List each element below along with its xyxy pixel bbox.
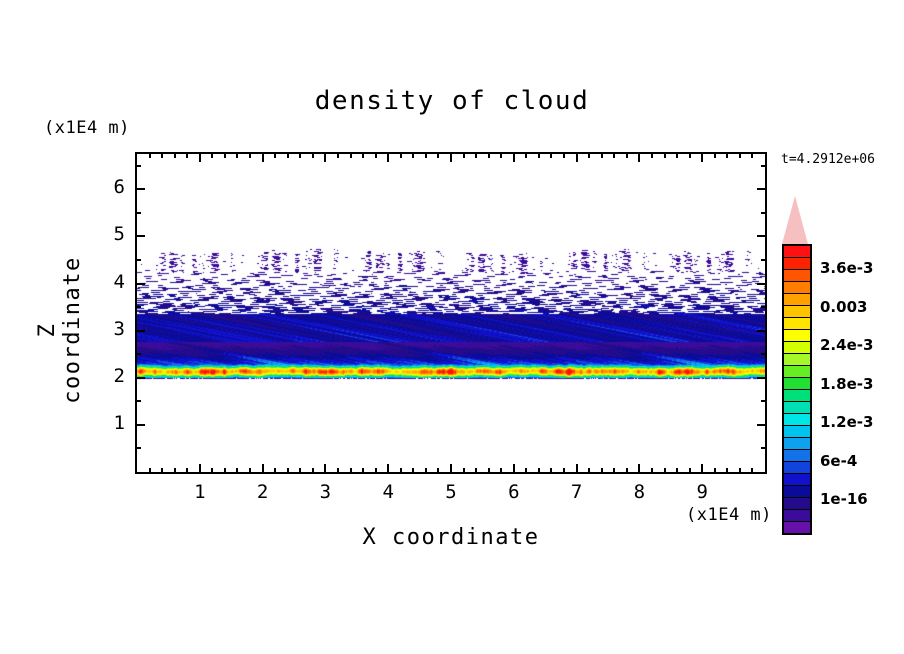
x-tick-major xyxy=(387,152,389,162)
x-tick-minor xyxy=(337,152,339,158)
colorbar-band-stack xyxy=(782,244,812,535)
x-tick-minor xyxy=(525,152,527,158)
y-tick-minor xyxy=(761,165,767,167)
x-tick-major xyxy=(638,152,640,162)
x-tick-minor xyxy=(350,468,352,474)
x-tick-minor xyxy=(287,468,289,474)
x-tick-minor xyxy=(739,152,741,158)
x-tick-minor xyxy=(287,152,289,158)
x-tick-major xyxy=(576,464,578,474)
y-tick-major xyxy=(757,330,767,332)
x-tick-minor xyxy=(475,468,477,474)
x-tick-minor xyxy=(726,468,728,474)
x-tick-minor xyxy=(375,468,377,474)
y-tick-major xyxy=(757,377,767,379)
colorbar-band xyxy=(784,378,810,390)
colorbar-band xyxy=(784,342,810,354)
colorbar-band xyxy=(784,366,810,378)
x-tick-minor xyxy=(500,468,502,474)
y-tick-minor xyxy=(761,259,767,261)
x-tick-minor xyxy=(236,152,238,158)
x-tick-major xyxy=(701,152,703,162)
y-tick-minor xyxy=(135,306,141,308)
colorbar-band xyxy=(784,282,810,294)
x-tick-minor xyxy=(488,468,490,474)
x-tick-minor xyxy=(249,468,251,474)
x-tick-major xyxy=(638,464,640,474)
x-tick-major xyxy=(324,152,326,162)
x-tick-label: 2 xyxy=(248,481,278,503)
x-tick-minor xyxy=(651,468,653,474)
y-tick-label: 1 xyxy=(99,412,125,434)
x-tick-minor xyxy=(312,468,314,474)
colorbar-band xyxy=(784,306,810,318)
x-tick-minor xyxy=(312,152,314,158)
x-tick-minor xyxy=(412,152,414,158)
x-tick-major xyxy=(450,152,452,162)
colorbar-band xyxy=(784,450,810,462)
x-tick-minor xyxy=(362,152,364,158)
y-tick-minor xyxy=(761,306,767,308)
y-tick-major xyxy=(757,235,767,237)
x-tick-minor xyxy=(274,152,276,158)
y-tick-major xyxy=(757,188,767,190)
x-tick-minor xyxy=(299,152,301,158)
colorbar-tick-label: 0.003 xyxy=(820,298,867,316)
x-tick-major xyxy=(576,152,578,162)
x-tick-minor xyxy=(664,468,666,474)
x-tick-minor xyxy=(588,152,590,158)
x-tick-minor xyxy=(525,468,527,474)
x-tick-minor xyxy=(425,468,427,474)
x-tick-minor xyxy=(739,468,741,474)
x-tick-label: 7 xyxy=(562,481,592,503)
x-tick-minor xyxy=(613,152,615,158)
x-tick-minor xyxy=(463,468,465,474)
x-tick-minor xyxy=(500,152,502,158)
y-tick-label: 3 xyxy=(99,318,125,340)
x-tick-major xyxy=(324,464,326,474)
y-tick-major xyxy=(135,377,145,379)
x-tick-minor xyxy=(224,468,226,474)
colorbar-tick-label: 6e-4 xyxy=(820,452,857,470)
x-tick-minor xyxy=(211,152,213,158)
x-tick-minor xyxy=(563,468,565,474)
x-tick-minor xyxy=(651,152,653,158)
x-tick-minor xyxy=(613,468,615,474)
x-tick-major xyxy=(387,464,389,474)
y-axis-title: Z coordinate xyxy=(35,250,85,410)
x-tick-minor xyxy=(274,468,276,474)
x-tick-minor xyxy=(626,468,628,474)
x-tick-minor xyxy=(149,468,151,474)
x-tick-minor xyxy=(186,152,188,158)
colorbar-tick-label: 1.2e-3 xyxy=(820,413,873,431)
y-tick-major xyxy=(135,424,145,426)
x-tick-minor xyxy=(588,468,590,474)
time-annotation: t=4.2912e+06 xyxy=(781,152,875,167)
x-tick-minor xyxy=(400,468,402,474)
x-tick-major xyxy=(450,464,452,474)
y-tick-major xyxy=(135,330,145,332)
x-tick-minor xyxy=(299,468,301,474)
x-tick-major xyxy=(513,464,515,474)
x-axis-title: X coordinate xyxy=(135,525,767,550)
x-tick-minor xyxy=(601,152,603,158)
colorbar-band xyxy=(784,246,810,258)
y-tick-minor xyxy=(135,447,141,449)
x-tick-minor xyxy=(236,468,238,474)
y-tick-minor xyxy=(135,212,141,214)
x-tick-label: 4 xyxy=(373,481,403,503)
y-tick-minor xyxy=(761,212,767,214)
colorbar-band xyxy=(784,522,810,533)
x-tick-minor xyxy=(563,152,565,158)
colorbar-band xyxy=(784,462,810,474)
x-tick-minor xyxy=(174,152,176,158)
colorbar-band xyxy=(784,390,810,402)
x-tick-minor xyxy=(714,152,716,158)
y-tick-label: 6 xyxy=(99,176,125,198)
y-tick-major xyxy=(135,283,145,285)
x-tick-label: 8 xyxy=(624,481,654,503)
x-tick-minor xyxy=(550,152,552,158)
colorbar-tick-label: 3.6e-3 xyxy=(820,259,873,277)
x-tick-minor xyxy=(550,468,552,474)
x-tick-minor xyxy=(224,152,226,158)
colorbar-band xyxy=(784,498,810,510)
x-tick-minor xyxy=(601,468,603,474)
x-tick-minor xyxy=(161,152,163,158)
x-tick-minor xyxy=(412,468,414,474)
colorbar-band xyxy=(784,354,810,366)
y-tick-minor xyxy=(135,400,141,402)
x-tick-minor xyxy=(488,152,490,158)
y-tick-major xyxy=(135,235,145,237)
y-tick-label: 5 xyxy=(99,223,125,245)
colorbar-band xyxy=(784,402,810,414)
x-tick-minor xyxy=(211,468,213,474)
colorbar-tick-label: 1.8e-3 xyxy=(820,375,873,393)
colorbar-band xyxy=(784,510,810,522)
x-tick-minor xyxy=(149,152,151,158)
colorbar-over-arrow-icon xyxy=(782,196,808,244)
x-tick-label: 3 xyxy=(310,481,340,503)
colorbar-tick-label: 2.4e-3 xyxy=(820,336,873,354)
x-tick-label: 5 xyxy=(436,481,466,503)
x-tick-minor xyxy=(463,152,465,158)
y-tick-minor xyxy=(135,259,141,261)
x-tick-minor xyxy=(538,468,540,474)
colorbar-band xyxy=(784,414,810,426)
x-tick-major xyxy=(199,464,201,474)
y-tick-major xyxy=(757,283,767,285)
x-tick-minor xyxy=(714,468,716,474)
x-tick-minor xyxy=(751,468,753,474)
x-tick-major xyxy=(262,464,264,474)
x-tick-major xyxy=(199,152,201,162)
x-tick-minor xyxy=(475,152,477,158)
y-tick-major xyxy=(135,188,145,190)
x-tick-major xyxy=(701,464,703,474)
contour-plot-area[interactable] xyxy=(135,152,767,474)
colorbar-band xyxy=(784,270,810,282)
x-tick-label: 1 xyxy=(185,481,215,503)
x-tick-minor xyxy=(425,152,427,158)
colorbar-band xyxy=(784,330,810,342)
x-tick-minor xyxy=(375,152,377,158)
contour-field-canvas xyxy=(137,154,765,472)
y-tick-minor xyxy=(761,353,767,355)
x-tick-minor xyxy=(676,468,678,474)
x-tick-minor xyxy=(249,152,251,158)
y-tick-major xyxy=(757,424,767,426)
x-tick-minor xyxy=(350,152,352,158)
x-tick-major xyxy=(262,152,264,162)
y-tick-minor xyxy=(135,165,141,167)
x-tick-minor xyxy=(437,468,439,474)
x-tick-minor xyxy=(400,152,402,158)
x-tick-minor xyxy=(689,468,691,474)
y-tick-label: 2 xyxy=(99,365,125,387)
x-tick-minor xyxy=(751,152,753,158)
y-tick-label: 4 xyxy=(99,271,125,293)
colorbar-tick-label: 1e-16 xyxy=(820,490,868,508)
colorbar-band xyxy=(784,474,810,486)
x-tick-minor xyxy=(161,468,163,474)
x-tick-minor xyxy=(174,468,176,474)
x-tick-minor xyxy=(626,152,628,158)
colorbar-band xyxy=(784,294,810,306)
x-tick-minor xyxy=(676,152,678,158)
x-tick-label: 9 xyxy=(687,481,717,503)
colorbar-band xyxy=(784,426,810,438)
x-tick-label: 6 xyxy=(499,481,529,503)
y-tick-minor xyxy=(761,447,767,449)
x-tick-minor xyxy=(726,152,728,158)
colorbar-band xyxy=(784,258,810,270)
y-tick-minor xyxy=(761,400,767,402)
colorbar-band xyxy=(784,438,810,450)
x-tick-minor xyxy=(689,152,691,158)
x-tick-minor xyxy=(538,152,540,158)
x-axis-unit-label: (x1E4 m) xyxy=(686,505,772,525)
x-tick-major xyxy=(513,152,515,162)
colorbar-band xyxy=(784,318,810,330)
x-tick-minor xyxy=(437,152,439,158)
y-tick-minor xyxy=(135,353,141,355)
x-tick-minor xyxy=(362,468,364,474)
page-title: density of cloud xyxy=(0,86,904,116)
x-tick-minor xyxy=(186,468,188,474)
colorbar-band xyxy=(784,486,810,498)
x-tick-minor xyxy=(337,468,339,474)
y-axis-unit-label: (x1E4 m) xyxy=(44,118,130,138)
x-tick-minor xyxy=(664,152,666,158)
